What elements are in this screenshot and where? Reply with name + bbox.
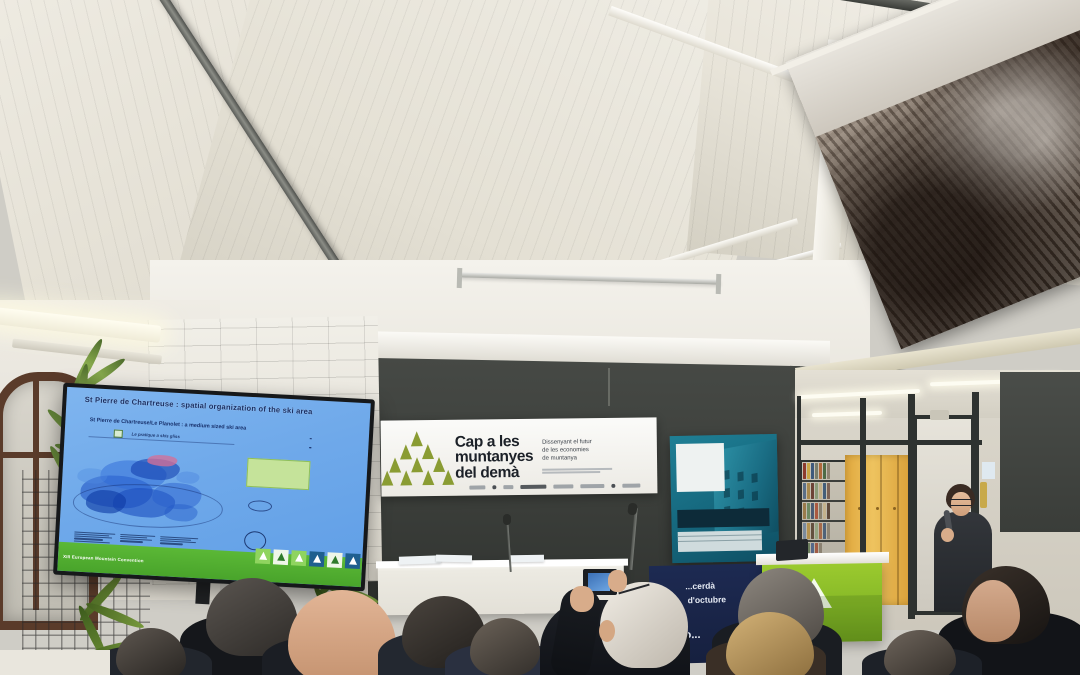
poster-title-card <box>676 443 725 492</box>
sponsor-logo <box>553 484 573 488</box>
conference-hall-photo: St Pierre de Chartreuse : spatial organi… <box>0 0 1080 675</box>
small-notice-poster <box>982 462 995 479</box>
banner-fineprint <box>542 468 612 473</box>
poster-schedule-table <box>678 530 762 552</box>
glass-frame-mullion-2 <box>908 394 915 619</box>
footer-logo <box>345 553 361 569</box>
blue-sign-line-1: ...cerdà <box>685 581 715 592</box>
wall-rail-bracket-right <box>716 274 722 294</box>
footer-logo <box>291 550 307 566</box>
papers-on-table <box>399 555 441 564</box>
footer-logo <box>309 551 325 567</box>
photographer-hand-right <box>608 570 627 592</box>
legend-text-2 <box>284 535 330 537</box>
cap-a-les-muntanyes-banner: Cap a les muntanyes del demà Dissenyant … <box>381 417 658 496</box>
slide-title: St Pierre de Chartreuse : spatial organi… <box>85 395 359 419</box>
footer-logo <box>255 548 271 564</box>
papers-on-table <box>510 555 544 563</box>
audience-face <box>966 580 1020 642</box>
sponsor-logo <box>580 483 604 487</box>
slide-footer-text: XIII European Mountain Convention <box>63 554 144 563</box>
legend-text-1 <box>286 500 332 502</box>
banner-title-line-3: del demà <box>455 465 533 481</box>
hanging-cable <box>608 368 610 406</box>
foreground-table-edge <box>0 650 110 675</box>
door-handle[interactable] <box>980 482 987 508</box>
glass-frame-transom <box>797 440 982 445</box>
slide-footer-logos <box>255 548 361 569</box>
wall-lamp <box>930 410 949 420</box>
wall-rail-bracket-left <box>457 268 463 288</box>
sponsor-logo <box>520 484 546 488</box>
audience-head <box>470 618 540 675</box>
banner-sponsor-logos <box>469 480 651 491</box>
banner-title: Cap a les muntanyes del demà <box>455 434 534 481</box>
photographer-hand-left <box>570 586 594 612</box>
poster-info-strip <box>677 508 769 528</box>
footer-logo <box>327 552 343 568</box>
blue-sign-line-2: d'octubre <box>688 594 727 605</box>
sponsor-logo <box>469 485 485 489</box>
sponsor-logo <box>503 485 513 489</box>
papers-on-table <box>436 555 472 563</box>
banner-subtitle: Dissenyant el futur de les economies de … <box>542 439 612 473</box>
slide-bullet <box>314 437 366 440</box>
photographer-ear <box>599 620 615 642</box>
blue-teal-poster <box>670 434 780 563</box>
footer-logo <box>273 549 289 565</box>
sponsor-logo <box>622 483 640 487</box>
banner-subtitle-line-3: de muntanya <box>542 455 612 464</box>
slide-bullet-list <box>314 437 366 449</box>
wall-mounted-display[interactable]: St Pierre de Chartreuse : spatial organi… <box>53 383 375 592</box>
slide-bullet <box>314 446 366 449</box>
tree-pyramid-logo <box>387 429 450 488</box>
legend-shape-ellipse <box>248 500 273 512</box>
banner-title-line-2: muntanyes <box>455 449 533 465</box>
camera-lcd-screen <box>588 573 610 591</box>
slide-bullet <box>314 446 366 449</box>
library-dark-wall-panel <box>1000 372 1080 532</box>
microphone-head-2 <box>503 514 511 525</box>
sponsor-logo <box>611 483 615 487</box>
slide-green-callout <box>246 457 310 490</box>
sponsor-logo <box>492 485 496 489</box>
slide-subtitle: St Pierre de Chartreuse/Le Planolet : a … <box>90 417 333 436</box>
presentation-slide: St Pierre de Chartreuse : spatial organi… <box>57 387 371 587</box>
speaker-glasses <box>950 499 972 506</box>
laptop-on-lectern <box>776 539 808 561</box>
speaker-hand <box>941 528 954 542</box>
